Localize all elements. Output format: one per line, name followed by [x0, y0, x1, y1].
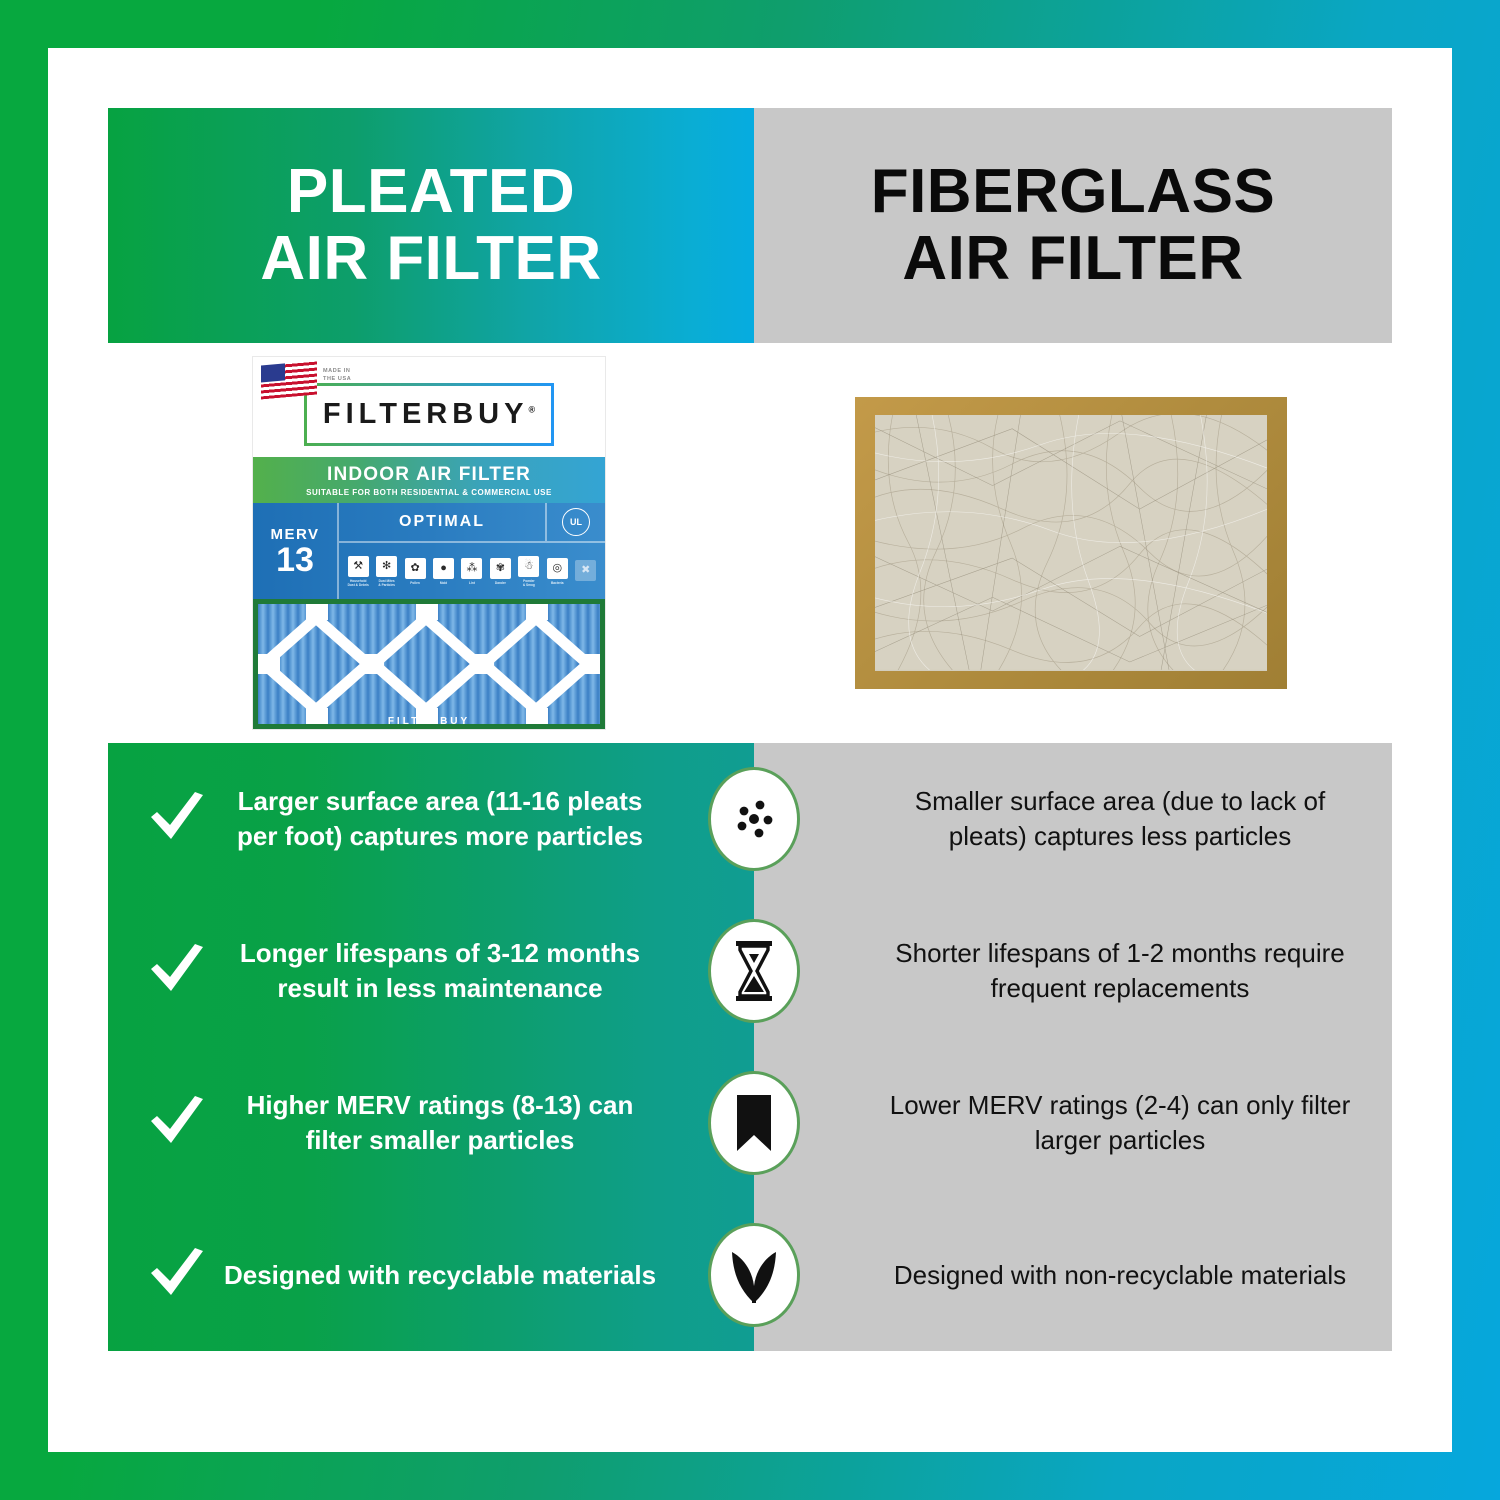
checkmark — [138, 791, 216, 847]
comparison-wrapper: Larger surface area (11-16 pleats per fo… — [108, 743, 1392, 1351]
comparison-row-pleated-text: Designed with recyclable materials — [216, 1258, 720, 1293]
comparison-row-fiberglass-text: Smaller surface area (due to lack of ple… — [885, 784, 1355, 854]
checkmark — [138, 1247, 216, 1303]
brand-trademark: ® — [528, 404, 535, 414]
disabled-feature-icon: ✖ — [574, 560, 597, 583]
comparison-row-pleated-text: Higher MERV ratings (8-13) can filter sm… — [216, 1088, 720, 1158]
merv-value: 13 — [276, 543, 314, 577]
brand-name-text: FILTERBUY — [323, 398, 529, 430]
comparison-panel: Larger surface area (11-16 pleats per fo… — [108, 743, 1392, 1351]
comparison-row-fiberglass: Smaller surface area (due to lack of ple… — [754, 743, 1392, 895]
pleat-support-grid-icon — [258, 604, 600, 724]
usa-flag-icon — [261, 361, 317, 400]
merv-badge: MERV 13 — [253, 503, 339, 599]
dust-mites-icon-caption: Dust Mites & Particles — [378, 579, 394, 587]
header-band: PLEATED AIR FILTER FIBERGLASS AIR FILTER — [108, 108, 1392, 343]
comparison-pleated-column: Larger surface area (11-16 pleats per fo… — [108, 743, 754, 1351]
pleated-media-area: FILTERBUY — [253, 599, 605, 729]
comparison-row-fiberglass-text: Shorter lifespans of 1-2 months require … — [885, 936, 1355, 1006]
household-dust-icon-glyph: ⚒ — [348, 556, 369, 577]
comparison-row-pleated: Higher MERV ratings (8-13) can filter sm… — [108, 1047, 754, 1199]
checkmark — [138, 1095, 216, 1151]
checkmark-icon — [147, 791, 207, 847]
fiberglass-mesh — [875, 415, 1267, 671]
comparison-row-pleated: Larger surface area (11-16 pleats per fo… — [108, 743, 754, 895]
dander-icon: ✾Dander — [489, 558, 512, 585]
merv-right-cell: OPTIMAL UL ⚒Household Dust & Debris✻Dust… — [339, 503, 605, 599]
header-fiberglass-panel: FIBERGLASS AIR FILTER — [754, 108, 1392, 343]
ul-listed-cell: UL — [545, 503, 605, 541]
powder-smog-icon: ☃Powder & Smog — [517, 556, 540, 587]
comparison-row-fiberglass-text: Lower MERV ratings (2-4) can only filter… — [885, 1088, 1355, 1158]
tier-label: OPTIMAL — [339, 513, 545, 531]
pollen-icon: ✿Pollen — [404, 558, 427, 585]
pollen-icon-glyph: ✿ — [405, 558, 426, 579]
brand-name: FILTERBUY® — [323, 398, 535, 431]
header-pleated-title: PLEATED AIR FILTER — [260, 159, 601, 293]
comparison-row-pleated-text: Larger surface area (11-16 pleats per fo… — [216, 784, 720, 854]
tier-row: OPTIMAL UL — [339, 503, 605, 543]
comparison-row-fiberglass-text: Designed with non-recyclable materials — [894, 1258, 1346, 1293]
band-subtitle: SUITABLE FOR BOTH RESIDENTIAL & COMMERCI… — [306, 488, 552, 497]
comparison-row-fiberglass: Lower MERV ratings (2-4) can only filter… — [754, 1047, 1392, 1199]
bacteria-icon: ◎Bacteria — [546, 558, 569, 585]
poster-inner: PLEATED AIR FILTER FIBERGLASS AIR FILTER… — [48, 48, 1452, 1452]
lint-icon-caption: Lint — [469, 581, 475, 585]
poster-frame: PLEATED AIR FILTER FIBERGLASS AIR FILTER… — [0, 0, 1500, 1500]
made-in-usa-text: MADE IN THE USA — [323, 367, 351, 384]
header-pleated-panel: PLEATED AIR FILTER — [108, 108, 754, 343]
comparison-row-pleated: Designed with recyclable materials — [108, 1199, 754, 1351]
product-images-strip: MADE IN THE USA FILTERBUY® INDOOR AIR FI… — [108, 343, 1392, 743]
lint-icon: ⁂Lint — [460, 558, 483, 585]
bacteria-icon-glyph: ◎ — [547, 558, 568, 579]
lint-icon-glyph: ⁂ — [461, 558, 482, 579]
household-dust-icon: ⚒Household Dust & Debris — [347, 556, 370, 587]
fiberglass-filter-product-image — [855, 397, 1287, 689]
band-title: INDOOR AIR FILTER — [327, 464, 531, 486]
comparison-row-pleated: Longer lifespans of 3-12 months result i… — [108, 895, 754, 1047]
ul-mark-icon: UL — [562, 508, 590, 536]
checkmark-icon — [147, 1247, 207, 1303]
fiberglass-image-cell — [750, 397, 1392, 689]
checkmark-icon — [147, 943, 207, 999]
checkmark — [138, 943, 216, 999]
pleated-image-cell: MADE IN THE USA FILTERBUY® INDOOR AIR FI… — [108, 357, 750, 729]
disabled-feature-icon-glyph: ✖ — [575, 560, 596, 581]
dander-icon-glyph: ✾ — [490, 558, 511, 579]
fiber-strands-icon — [875, 415, 1267, 670]
pleat-media — [258, 604, 600, 724]
dander-icon-caption: Dander — [495, 581, 506, 585]
merv-info-area: MERV 13 OPTIMAL UL ⚒Household Dust & Deb… — [253, 503, 605, 599]
header-fiberglass-title: FIBERGLASS AIR FILTER — [871, 159, 1276, 293]
merv-label: MERV — [270, 526, 319, 543]
bacteria-icon-caption: Bacteria — [551, 581, 564, 585]
capture-icon-row: ⚒Household Dust & Debris✻Dust Mites & Pa… — [339, 543, 605, 599]
checkmark-icon — [147, 1095, 207, 1151]
pleated-label-top: MADE IN THE USA FILTERBUY® — [253, 357, 605, 457]
dust-mites-icon: ✻Dust Mites & Particles — [375, 556, 398, 587]
pleated-footer-brand: FILTERBUY — [253, 716, 605, 727]
mold-icon-caption: Mold — [440, 581, 447, 585]
dust-mites-icon-glyph: ✻ — [376, 556, 397, 577]
pollen-icon-caption: Pollen — [410, 581, 420, 585]
household-dust-icon-caption: Household Dust & Debris — [348, 579, 369, 587]
comparison-fiberglass-column: Smaller surface area (due to lack of ple… — [754, 743, 1392, 1351]
mold-icon-glyph: ● — [433, 558, 454, 579]
comparison-row-pleated-text: Longer lifespans of 3-12 months result i… — [216, 936, 720, 1006]
indoor-air-filter-band: INDOOR AIR FILTER SUITABLE FOR BOTH RESI… — [253, 457, 605, 503]
comparison-row-fiberglass: Designed with non-recyclable materials — [754, 1199, 1392, 1351]
powder-smog-icon-glyph: ☃ — [518, 556, 539, 577]
powder-smog-icon-caption: Powder & Smog — [523, 579, 535, 587]
pleated-filter-product-image: MADE IN THE USA FILTERBUY® INDOOR AIR FI… — [253, 357, 605, 729]
brand-box: FILTERBUY® — [304, 383, 554, 446]
mold-icon: ●Mold — [432, 558, 455, 585]
comparison-row-fiberglass: Shorter lifespans of 1-2 months require … — [754, 895, 1392, 1047]
